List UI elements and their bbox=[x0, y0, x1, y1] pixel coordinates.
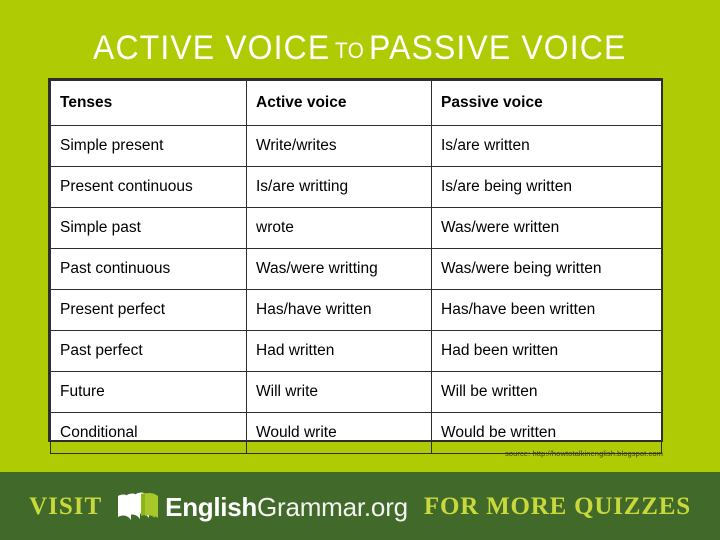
cell-tense: Simple past bbox=[51, 208, 247, 249]
cell-tense: Conditional bbox=[51, 413, 247, 454]
title-part-passive: PASSIVE VOICE bbox=[368, 29, 627, 67]
active-passive-voice-table: Tenses Active voice Passive voice Simple… bbox=[50, 80, 662, 454]
cell-passive: Is/are written bbox=[432, 126, 662, 167]
table-header-row: Tenses Active voice Passive voice bbox=[51, 81, 662, 126]
visit-label: VISIT bbox=[29, 493, 102, 521]
table-row: Simple past wrote Was/were written bbox=[51, 208, 662, 249]
cell-passive: Would be written bbox=[432, 413, 662, 454]
cell-tense: Future bbox=[51, 372, 247, 413]
table-row: Conditional Would write Would be written bbox=[51, 413, 662, 454]
cell-tense: Past continuous bbox=[51, 249, 247, 290]
cell-tense: Present continuous bbox=[51, 167, 247, 208]
cell-tense: Present perfect bbox=[51, 290, 247, 331]
title-part-active: ACTIVE VOICE bbox=[92, 29, 331, 67]
title-connector: TO bbox=[332, 38, 369, 63]
source-credit: source: http://howtotalkinenglish.blogsp… bbox=[505, 449, 663, 458]
cell-passive: Is/are being written bbox=[432, 167, 662, 208]
column-header-tenses: Tenses bbox=[51, 81, 247, 126]
cell-active: wrote bbox=[247, 208, 432, 249]
cell-tense: Simple present bbox=[51, 126, 247, 167]
cell-tense: Past perfect bbox=[51, 331, 247, 372]
brand-grammar-org: Grammar.org bbox=[257, 492, 408, 522]
cell-active: Write/writes bbox=[247, 126, 432, 167]
brand-wordmark: EnglishGrammar.org bbox=[165, 494, 408, 520]
cell-passive: Has/have been written bbox=[432, 290, 662, 331]
cell-active: Will write bbox=[247, 372, 432, 413]
cell-passive: Was/were written bbox=[432, 208, 662, 249]
table-row: Future Will write Will be written bbox=[51, 372, 662, 413]
cell-passive: Had been written bbox=[432, 331, 662, 372]
title-bar: ACTIVE VOICETOPASSIVE VOICE bbox=[0, 24, 720, 72]
cell-active: Would write bbox=[247, 413, 432, 454]
table-row: Present perfect Has/have written Has/hav… bbox=[51, 290, 662, 331]
column-header-active-voice: Active voice bbox=[247, 81, 432, 126]
cell-passive: Was/were being written bbox=[432, 249, 662, 290]
cell-active: Is/are writting bbox=[247, 167, 432, 208]
poster-canvas: ACTIVE VOICETOPASSIVE VOICE Tenses Activ… bbox=[0, 0, 720, 540]
cell-passive: Will be written bbox=[432, 372, 662, 413]
column-header-passive-voice: Passive voice bbox=[432, 81, 662, 126]
grammar-table-container: Tenses Active voice Passive voice Simple… bbox=[48, 78, 663, 442]
table-row: Present continuous Is/are writting Is/ar… bbox=[51, 167, 662, 208]
footer-bar: VISIT EnglishGrammar.org FOR MORE QUIZZE… bbox=[0, 472, 720, 540]
cell-active: Was/were writting bbox=[247, 249, 432, 290]
brand-english: English bbox=[165, 492, 257, 522]
open-book-logo-icon bbox=[116, 490, 160, 524]
cell-active: Has/have written bbox=[247, 290, 432, 331]
table-row: Simple present Write/writes Is/are writt… bbox=[51, 126, 662, 167]
page-title: ACTIVE VOICETOPASSIVE VOICE bbox=[92, 31, 627, 65]
table-row: Past perfect Had written Had been writte… bbox=[51, 331, 662, 372]
call-to-action-label: FOR MORE QUIZZES bbox=[424, 493, 691, 521]
cell-active: Had written bbox=[247, 331, 432, 372]
table-row: Past continuous Was/were writting Was/we… bbox=[51, 249, 662, 290]
footer-content: VISIT EnglishGrammar.org FOR MORE QUIZZE… bbox=[29, 473, 691, 540]
